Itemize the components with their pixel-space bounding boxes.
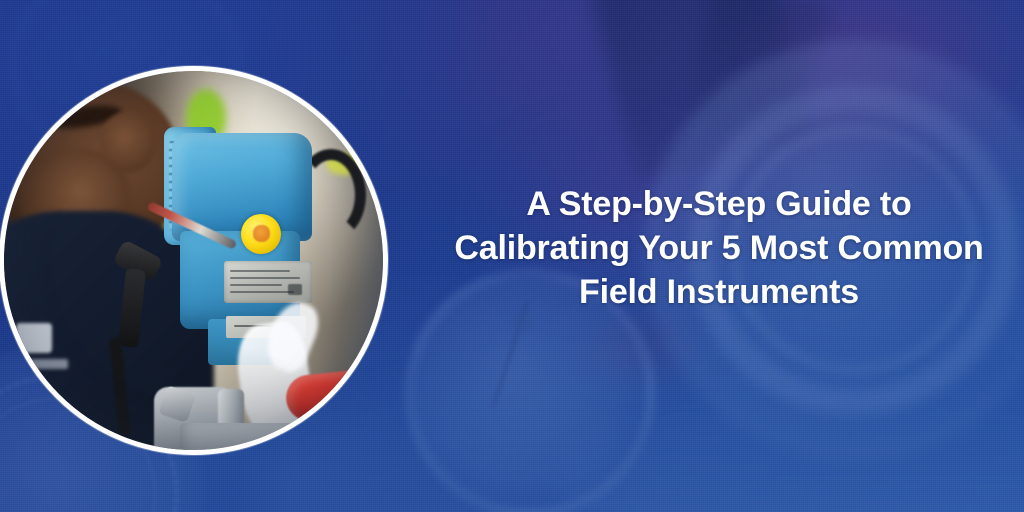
photo-vignette: [4, 71, 383, 450]
circular-photo-medallion: [0, 66, 388, 455]
blog-banner: A Step-by-Step Guide to Calibrating Your…: [0, 0, 1024, 512]
medallion-photo: [4, 71, 383, 450]
banner-headline: A Step-by-Step Guide to Calibrating Your…: [430, 182, 1008, 314]
